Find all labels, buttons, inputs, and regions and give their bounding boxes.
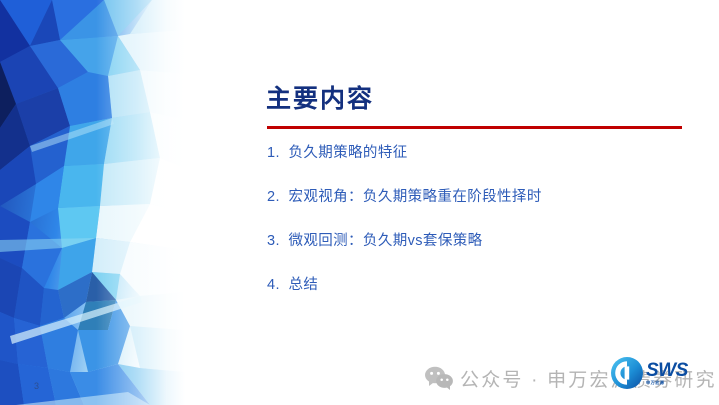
list-item[interactable]: 3. 微观回测：负久期vs套保策略 — [267, 230, 719, 274]
list-item-number: 3. — [267, 230, 284, 252]
list-item-number: 4. — [267, 274, 284, 296]
wechat-icon — [424, 365, 454, 391]
sws-wordmark-main: SWS — [646, 361, 688, 380]
list-item-number: 2. — [267, 186, 284, 208]
list-item[interactable]: 2. 宏观视角：负久期策略重在阶段性择时 — [267, 186, 719, 230]
low-poly-blue-band: 3 — [0, 0, 185, 405]
slide-canvas: 3 主要内容 1. 负久期策略的特征 2. 宏观视角：负久期策略重在阶段性择时 … — [0, 0, 719, 405]
sws-ring-icon — [610, 356, 644, 390]
list-item-label: 负久期策略的特征 — [288, 145, 407, 161]
table-of-contents: 1. 负久期策略的特征 2. 宏观视角：负久期策略重在阶段性择时 3. 微观回测… — [267, 142, 719, 318]
slide-content: 主要内容 1. 负久期策略的特征 2. 宏观视角：负久期策略重在阶段性择时 3.… — [266, 0, 719, 405]
list-item-number: 1. — [267, 142, 284, 164]
list-item[interactable]: 1. 负久期策略的特征 — [267, 142, 719, 186]
sws-logo: SWS 申万宏源 — [610, 355, 714, 391]
page-number: 3 — [34, 381, 39, 391]
sws-wordmark: SWS 申万宏源 — [646, 361, 688, 385]
title-underline-rule — [267, 126, 682, 129]
list-item-label: 微观回测：负久期vs套保策略 — [288, 233, 482, 249]
sws-wordmark-subtitle: 申万宏源 — [646, 381, 688, 385]
list-item-label: 宏观视角：负久期策略重在阶段性择时 — [288, 189, 541, 205]
list-item-label: 总结 — [288, 277, 318, 293]
page-title: 主要内容 — [266, 87, 374, 112]
list-item[interactable]: 4. 总结 — [267, 274, 719, 318]
